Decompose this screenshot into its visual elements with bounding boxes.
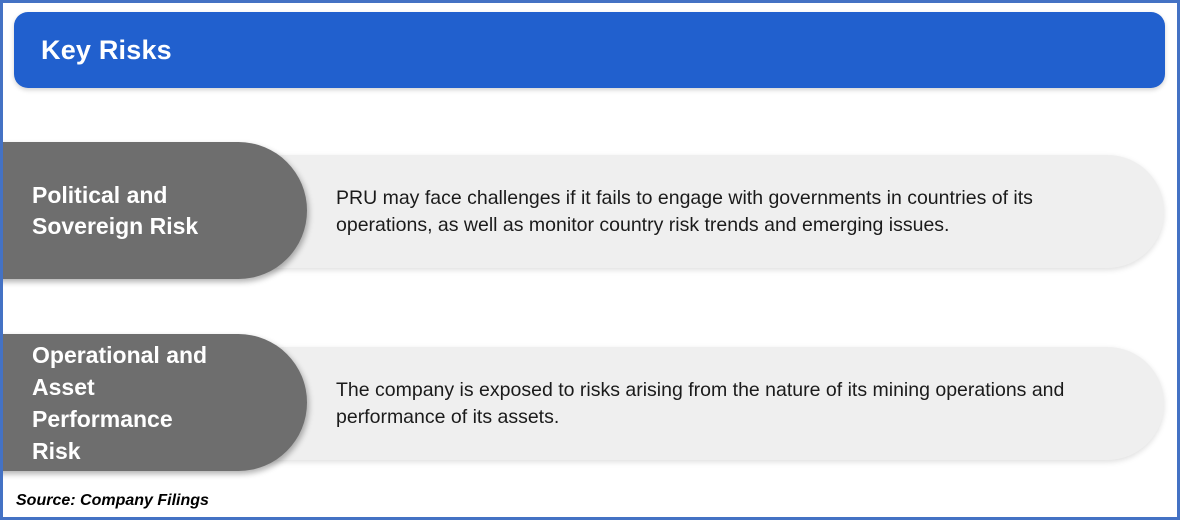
risk-row: PRU may face challenges if it fails to e… (3, 136, 1174, 286)
source-note: Source: Company Filings (16, 492, 209, 510)
risk-label-text: Political and Sovereign Risk (0, 180, 246, 242)
risk-row: The company is exposed to risks arising … (3, 328, 1174, 478)
risk-label-text: Operational and Asset Performance Risk (0, 339, 255, 467)
page-title: Key Risks (14, 35, 172, 66)
risk-description-text: PRU may face challenges if it fails to e… (336, 185, 1086, 239)
risk-description-text: The company is exposed to risks arising … (336, 377, 1086, 431)
risk-label-panel: Political and Sovereign Risk (0, 142, 307, 279)
risk-label-panel: Operational and Asset Performance Risk (0, 334, 307, 471)
header-bar: Key Risks (14, 12, 1165, 88)
key-risks-slide: Key Risks PRU may face challenges if it … (0, 0, 1180, 520)
